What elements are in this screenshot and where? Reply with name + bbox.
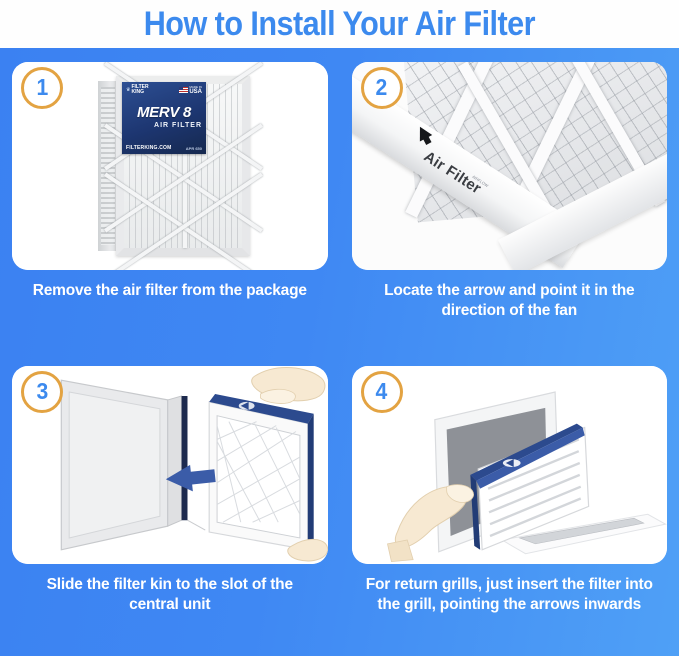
step-1-card: ♛ FILTER KING MADE IN (12, 62, 328, 270)
step-2-caption: Locate the arrow and point it in the dir… (352, 270, 668, 322)
step-2: Air Filter AIRFLOW 2 Locate the arrow an… (340, 48, 679, 352)
central-unit-slot (61, 380, 205, 550)
step-1-number: 1 (36, 76, 48, 99)
country-text: USA (189, 89, 202, 95)
step-3-badge: 3 (21, 371, 63, 413)
apr-text: APR 650 (186, 146, 202, 151)
step-3-caption: Slide the filter kin to the slot of the … (12, 564, 328, 616)
step-1: ♛ FILTER KING MADE IN (0, 48, 340, 352)
product-type: AIR FILTER (126, 122, 202, 129)
step-4: 4 For return grills, just insert the fil… (340, 352, 679, 656)
usa-flag-icon (179, 87, 188, 93)
step-3-card: 3 (12, 366, 328, 564)
brand-line-2: KING (131, 89, 144, 95)
steps-grid: ♛ FILTER KING MADE IN (0, 48, 679, 656)
step-4-caption: For return grills, just insert the filte… (352, 564, 668, 616)
page-title: How to Install Your Air Filter (144, 5, 535, 44)
step-3-number: 3 (36, 380, 48, 403)
air-filter-product: ♛ FILTER KING MADE IN (98, 76, 250, 256)
step-4-card: 4 (352, 366, 668, 564)
product-label: ♛ FILTER KING MADE IN (122, 82, 206, 154)
step-1-badge: 1 (21, 67, 63, 109)
step-3: 3 Slide the filter kin to the slot of th… (0, 352, 340, 656)
merv-rating: MERV 8 (126, 104, 202, 121)
pleated-filter-with-navy-frame (209, 394, 314, 550)
brand-logo: ♛ FILTER KING (126, 85, 149, 96)
step-2-card: Air Filter AIRFLOW 2 (352, 62, 668, 270)
step-4-badge: 4 (361, 371, 403, 413)
crown-icon: ♛ (126, 88, 130, 93)
website-text: FILTERKING.COM (126, 145, 171, 151)
step-4-number: 4 (376, 380, 388, 403)
step-2-badge: 2 (361, 67, 403, 109)
made-in-usa-badge: MADE IN USA (179, 86, 202, 95)
step-1-caption: Remove the air filter from the package (12, 270, 328, 301)
step-2-number: 2 (376, 76, 388, 99)
title-band: How to Install Your Air Filter (0, 0, 679, 48)
infographic-page: How to Install Your Air Filter (0, 0, 679, 656)
